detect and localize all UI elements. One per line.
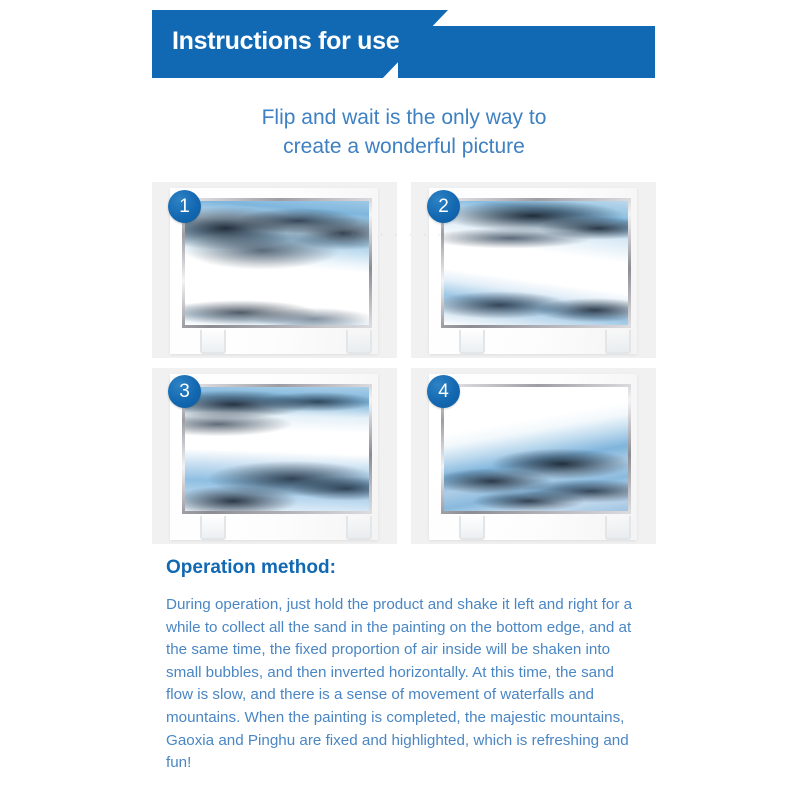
easel-leg-right-icon — [346, 330, 372, 354]
easel-leg-left-icon — [459, 330, 485, 354]
sand-artwork-3 — [185, 387, 369, 511]
operation-method-heading: Operation method: — [166, 557, 336, 579]
operation-method-paragraph: During operation, just hold the product … — [166, 594, 640, 775]
subtitle: Flip and wait is the only way to create … — [152, 103, 656, 161]
subtitle-line-1: Flip and wait is the only way to — [262, 106, 547, 129]
instructions-page: Instructions for use Flip and wait is th… — [0, 0, 800, 800]
operation-method-body: During operation, just hold the product … — [166, 594, 640, 775]
page-title: Instructions for use — [172, 27, 399, 56]
step-badge-1: 1 — [168, 190, 201, 223]
sand-artwork-2 — [444, 201, 628, 325]
picture-frame-2 — [429, 188, 637, 354]
easel-leg-left-icon — [459, 516, 485, 540]
easel-leg-left-icon — [200, 516, 226, 540]
sand-artwork-1 — [185, 201, 369, 325]
easel-leg-right-icon — [605, 330, 631, 354]
sand-art-window-1 — [182, 198, 372, 328]
subtitle-line-2: create a wonderful picture — [152, 132, 656, 161]
sand-art-window-2 — [441, 198, 631, 328]
step-badge-4: 4 — [427, 375, 460, 408]
steps-grid — [152, 182, 656, 544]
sand-art-window-3 — [182, 384, 372, 514]
easel-stand-4 — [453, 516, 637, 542]
easel-leg-right-icon — [605, 516, 631, 540]
easel-stand-2 — [453, 330, 637, 356]
header-banner: Instructions for use — [0, 0, 800, 95]
easel-stand-3 — [194, 516, 378, 542]
step-badge-2: 2 — [427, 190, 460, 223]
picture-frame-1 — [170, 188, 378, 354]
easel-leg-left-icon — [200, 330, 226, 354]
step-badge-3: 3 — [168, 375, 201, 408]
picture-frame-3 — [170, 374, 378, 540]
sand-artwork-4 — [444, 387, 628, 511]
easel-leg-right-icon — [346, 516, 372, 540]
banner-right-block — [398, 26, 655, 78]
easel-stand-1 — [194, 330, 378, 356]
picture-frame-4 — [429, 374, 637, 540]
sand-art-window-4 — [441, 384, 631, 514]
